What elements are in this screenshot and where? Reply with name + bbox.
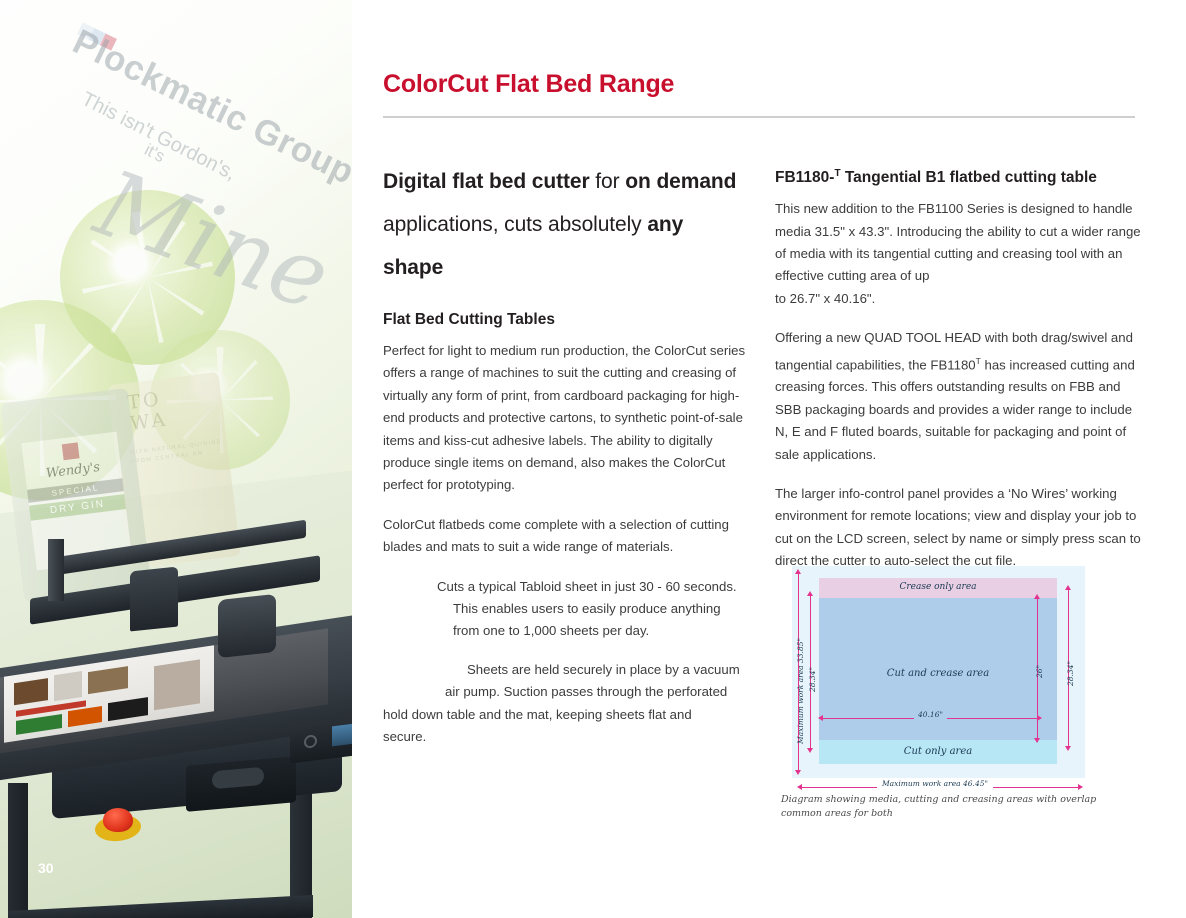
left-subheading: Flat Bed Cutting Tables: [383, 311, 749, 329]
left-paragraph-4: Sheets are held securely in place by a v…: [383, 659, 749, 749]
control-knob-icon: [304, 734, 317, 749]
machine-control-panel: [290, 716, 352, 763]
left-text-column: Digital flat bed cutter for on demand ap…: [383, 160, 749, 765]
gin-brand-name: Wendy's: [45, 460, 101, 482]
dim-arrow-down: [1065, 746, 1071, 751]
machine-gantry-post: [48, 539, 64, 601]
dim-arrow-down: [1034, 738, 1040, 743]
left-paragraph-4-line-3: hold down table and the mat, keeping she…: [383, 704, 749, 726]
left-paragraph-3-line-2: This enables users to easily produce any…: [453, 598, 749, 620]
machine-tool-head: [130, 566, 178, 631]
diagram-label-cut-only: Cut only area: [819, 746, 1057, 757]
page-title: ColorCut Flat Bed Range: [383, 70, 674, 99]
machine-leg-left: [8, 783, 28, 918]
diagram-label-cut-and-crease: Cut and crease area: [819, 668, 1057, 679]
diagram-caption: Diagram showing media, cutting and creas…: [781, 793, 1101, 821]
dim-arrow-up: [795, 569, 801, 574]
dim-arrow-down: [807, 748, 813, 753]
page-number: 30: [38, 860, 54, 876]
dim-arrow-down: [795, 770, 801, 775]
dim-label-max-height: Maximum work area 33.85": [796, 638, 805, 744]
page-content: ColorCut Flat Bed Range Digital flat bed…: [352, 0, 1186, 918]
right-subheading: FB1180-T Tangential B1 flatbed cutting t…: [775, 168, 1143, 187]
tonic-label-smallprint: WITH NATURAL QUININE FROM CENTRAL AM: [129, 438, 224, 467]
emergency-stop-button: [103, 808, 133, 832]
right-paragraph-2-part-b: has increased cutting and creasing force…: [775, 357, 1135, 462]
lede-normal-2: applications, cuts absolutely: [383, 213, 647, 236]
left-paragraph-3: Cuts a typical Tabloid sheet in just 30 …: [383, 576, 749, 643]
left-paragraph-4-line-2: air pump. Suction passes through the per…: [445, 681, 749, 703]
lede-normal-1: for: [590, 170, 626, 193]
right-paragraph-1-tail: to 26.7" x 40.16".: [775, 291, 875, 306]
dim-arrow-up: [807, 591, 813, 596]
tonic-label-text: TO WA: [126, 383, 216, 435]
right-paragraph-1-main: This new addition to the FB1100 Series i…: [775, 201, 1141, 283]
lede-bold-1: Digital flat bed cutter: [383, 170, 590, 193]
work-area-diagram: Crease only area Cut and crease area Cut…: [781, 562, 1101, 824]
dim-arrow-up: [1065, 585, 1071, 590]
right-subheading-rest: Tangential B1 flatbed cutting table: [841, 169, 1097, 186]
right-paragraph-1: This new addition to the FB1100 Series i…: [775, 198, 1143, 310]
left-photo-panel: Plockmatic Group This isn't Gordon's, it…: [0, 0, 352, 918]
right-paragraph-3: The larger info-control panel provides a…: [775, 483, 1143, 573]
left-paragraph-1: Perfect for light to medium run producti…: [383, 340, 749, 497]
dim-label-inner-width: 40.16": [914, 710, 947, 719]
left-paragraph-3-line-3: from one to 1,000 sheets per day.: [453, 620, 749, 642]
left-paragraph-3-line-1: Cuts a typical Tabloid sheet in just 30 …: [437, 576, 749, 598]
crest-icon: [62, 442, 80, 460]
right-text-column: FB1180-T Tangential B1 flatbed cutting t…: [775, 168, 1143, 590]
left-paragraph-4-line-4: secure.: [383, 726, 749, 748]
right-paragraph-2: Offering a new QUAD TOOL HEAD with both …: [775, 327, 1143, 466]
title-divider: [383, 116, 1135, 118]
dim-label-left-height: 28.34": [808, 667, 817, 692]
dim-arrow-up: [1034, 594, 1040, 599]
right-subheading-model: FB1180-: [775, 169, 834, 186]
machine-base-bar: [8, 895, 313, 918]
dim-arrow-left: [818, 715, 823, 721]
diagram-label-crease-only: Crease only area: [819, 582, 1057, 592]
dim-arrow-right: [1078, 784, 1083, 790]
dim-arrow-right: [1037, 715, 1042, 721]
lede-headline: Digital flat bed cutter for on demand ap…: [383, 160, 749, 289]
diagram-canvas: Crease only area Cut and crease area Cut…: [792, 566, 1085, 778]
dim-label-right-height: 28.34": [1066, 661, 1075, 686]
lede-bold-2: on demand: [625, 170, 736, 193]
lcd-screen: [332, 723, 352, 746]
machine-quad-tool-head: [218, 594, 276, 658]
left-paragraph-4-line-1: Sheets are held securely in place by a v…: [467, 659, 749, 681]
dim-label-max-width: Maximum work area 46.45": [877, 779, 993, 788]
left-paragraph-2: ColorCut flatbeds come complete with a s…: [383, 514, 749, 559]
dim-arrow-left: [797, 784, 802, 790]
dim-label-inner-height: 26": [1035, 665, 1044, 678]
